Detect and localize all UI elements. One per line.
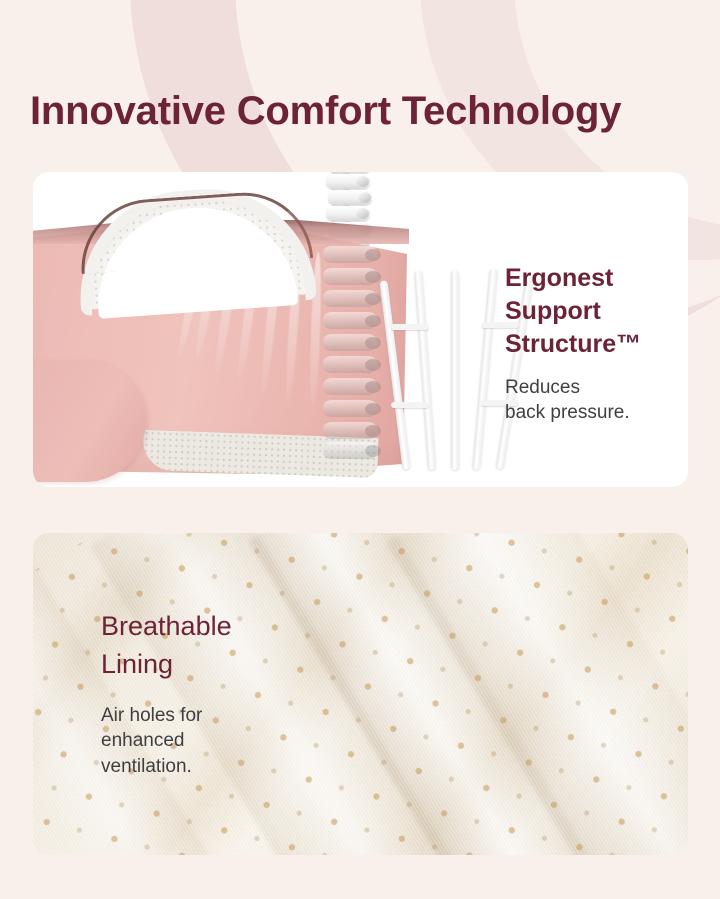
ergonest-heading-line-2: Support [505,297,601,325]
vertebra-overlay [323,268,377,285]
vertebra-overlay [323,246,377,263]
ergonest-text-block: Ergonest Support Structure™ Reduces back… [505,262,685,426]
ergonest-heading-line-3: Structure™ [505,330,641,358]
vertebra [328,172,372,173]
support-stay [414,270,436,470]
support-stay [472,268,498,470]
breathable-body-line-1: Air holes for [101,705,202,726]
breathable-body: Air holes for enhanced ventilation. [101,703,331,780]
ergonest-body-line-2: back pressure. [505,402,630,423]
breathable-heading-line-1: Breathable [101,611,232,641]
breathable-body-line-2: enhanced [101,730,184,751]
vertebra [326,174,370,189]
vertebra-overlay [323,334,377,351]
vertebra-overlay [323,378,377,395]
vertebra-overlay [323,312,377,329]
stay-crossbar [391,324,429,330]
breathable-heading: Breathable Lining [101,607,331,684]
vertebra [328,190,372,205]
spine-overlay-illustration [319,246,389,462]
breathable-heading-line-2: Lining [101,649,173,679]
vertebra-overlay [323,290,377,307]
ergonest-body-line-1: Reduces [505,377,580,398]
vertebra-overlay [323,442,377,459]
stay-crossbar [391,402,429,408]
vertebra-overlay [323,400,377,417]
breathable-text-block: Breathable Lining Air holes for enhanced… [101,607,331,780]
vertebra-overlay [323,422,377,439]
breathable-body-line-3: ventilation. [101,756,192,777]
ergonest-heading: Ergonest Support Structure™ [505,262,685,361]
ergonest-heading-line-1: Ergonest [505,264,613,292]
vertebra [326,206,370,221]
page-title: Innovative Comfort Technology [30,89,621,134]
ergonest-body: Reduces back pressure. [505,375,685,426]
vertebra-overlay [323,356,377,373]
support-stay [451,270,459,470]
